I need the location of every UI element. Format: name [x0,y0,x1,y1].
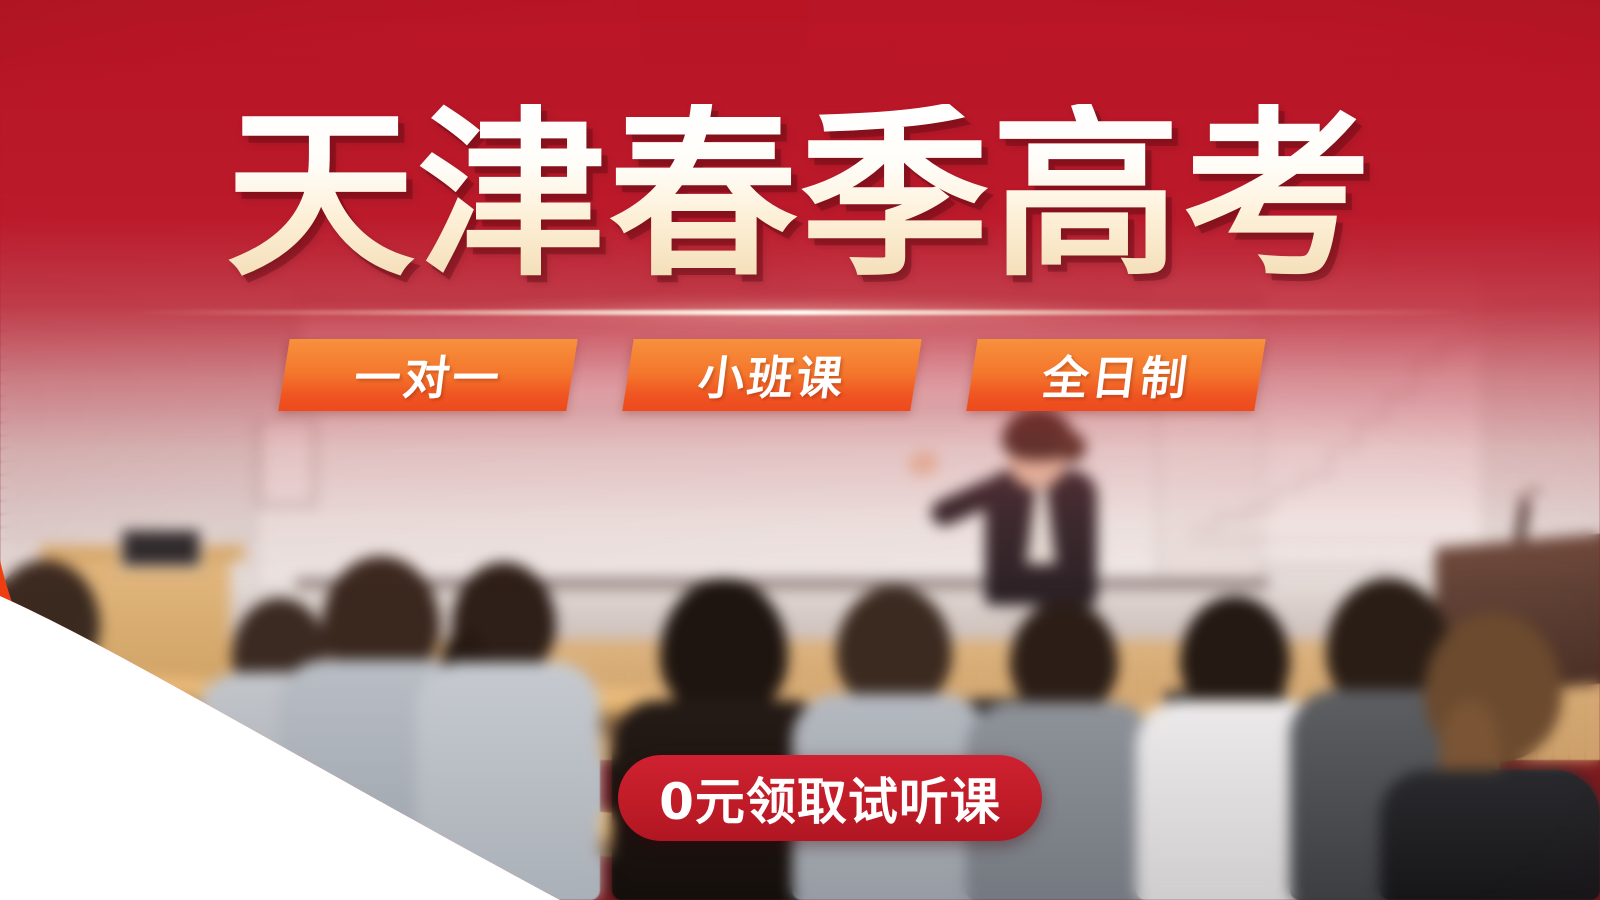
cta-label: 0元领取试听课 [659,762,1001,834]
tag-label: 小班课 [694,342,849,408]
light-streak [130,310,1470,315]
tag-label: 全日制 [1038,342,1193,408]
tag-one-on-one[interactable]: 一对一 [278,339,577,411]
tag-full-time[interactable]: 全日制 [966,339,1265,411]
tag-small-class[interactable]: 小班课 [622,339,921,411]
promo-banner: 天津春季高考 一对一 小班课 全日制 0元领取试听课 [0,0,1600,900]
free-trial-cta-button[interactable]: 0元领取试听课 [618,755,1042,841]
tag-row: 一对一 小班课 全日制 [0,339,1600,415]
tag-label: 一对一 [350,342,505,408]
